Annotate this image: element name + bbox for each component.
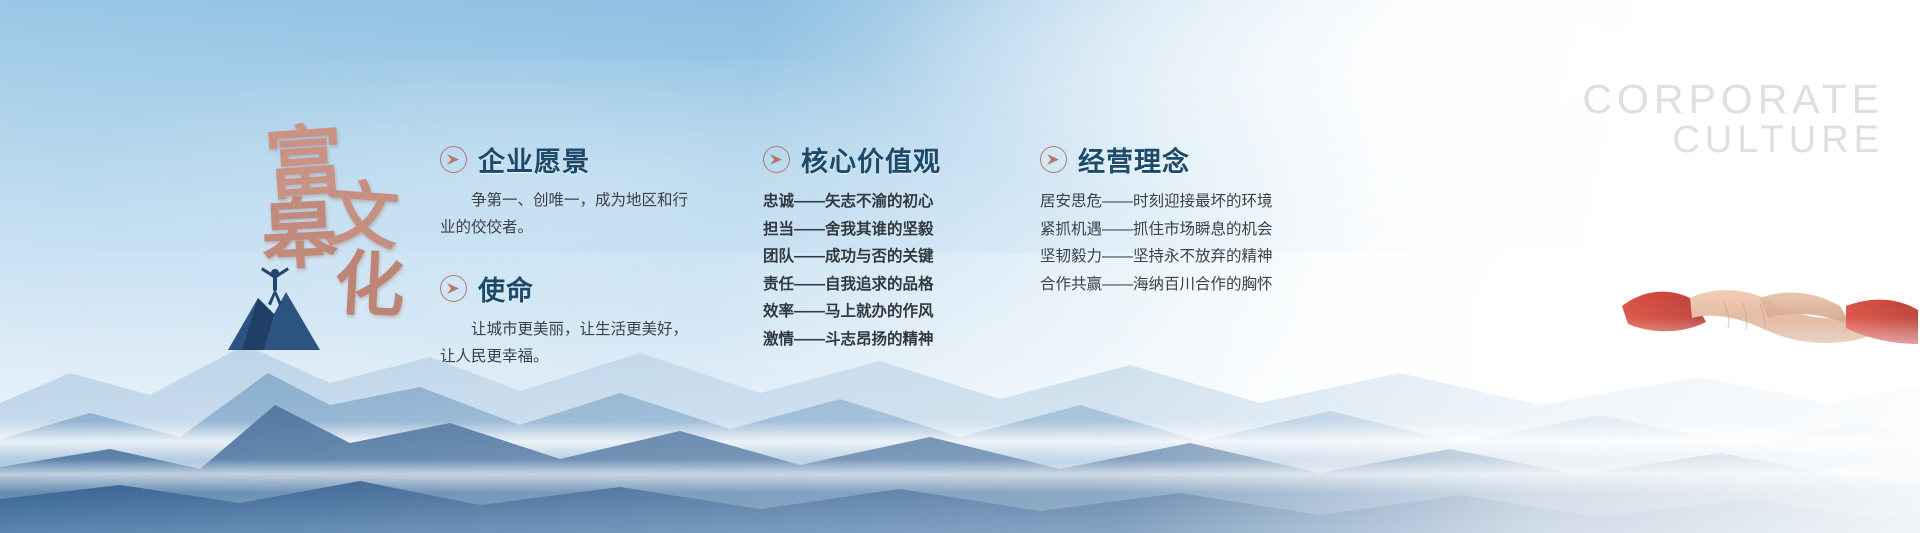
block-vision: 企业愿景 争第一、创唯一，成为地区和行业的佼佼者。 [440,140,740,241]
core-values-list: 忠诚——矢志不渝的初心 担当——舍我其谁的坚毅 团队——成功与否的关键 责任——… [763,188,1063,353]
business-philosophy-list: 居安思危——时刻迎接最坏的环境 紧抓机遇——抓住市场瞬息的机会 坚韧毅力——坚持… [1040,188,1360,298]
mission-body: 让城市更美丽，让生活更美好，让人民更幸福。 [440,317,702,370]
corporate-culture-banner: CORPORATE CULTURE 富 皋 文 化 [0,0,1920,533]
core-values-title: 核心价值观 [801,140,941,179]
mission-title: 使命 [478,269,534,308]
list-item: 紧抓机遇——抓住市场瞬息的机会 [1040,216,1360,244]
mission-heading: 使命 [440,269,740,308]
vision-body: 争第一、创唯一，成为地区和行业的佼佼者。 [440,188,702,241]
list-item: 团队——成功与否的关键 [763,243,1063,271]
core-values-heading: 核心价值观 [763,140,1063,179]
culture-columns: 企业愿景 争第一、创唯一，成为地区和行业的佼佼者。 使命 让城市更美丽，让生活更… [0,0,1920,533]
list-item: 坚韧毅力——坚持永不放弃的精神 [1040,243,1360,271]
chevron-circle-icon [763,146,790,173]
chevron-circle-icon [1040,146,1067,173]
business-philosophy-title: 经营理念 [1078,140,1190,179]
business-philosophy-heading: 经营理念 [1040,140,1360,179]
list-item: 激情——斗志昂扬的精神 [763,326,1063,354]
list-item: 合作共赢——海纳百川合作的胸怀 [1040,271,1360,299]
block-mission: 使命 让城市更美丽，让生活更美好，让人民更幸福。 [440,269,740,370]
vision-heading: 企业愿景 [440,140,740,179]
chevron-circle-icon [440,275,467,302]
column-business-philosophy: 经营理念 居安思危——时刻迎接最坏的环境 紧抓机遇——抓住市场瞬息的机会 坚韧毅… [1040,140,1360,306]
column-core-values: 核心价值观 忠诚——矢志不渝的初心 担当——舍我其谁的坚毅 团队——成功与否的关… [763,140,1063,361]
block-core-values: 核心价值观 忠诚——矢志不渝的初心 担当——舍我其谁的坚毅 团队——成功与否的关… [763,140,1063,353]
list-item: 居安思危——时刻迎接最坏的环境 [1040,188,1360,216]
list-item: 担当——舍我其谁的坚毅 [763,216,1063,244]
list-item: 效率——马上就办的作风 [763,298,1063,326]
column-vision-mission: 企业愿景 争第一、创唯一，成为地区和行业的佼佼者。 使命 让城市更美丽，让生活更… [440,140,740,379]
list-item: 忠诚——矢志不渝的初心 [763,188,1063,216]
vision-title: 企业愿景 [478,140,590,179]
block-business-philosophy: 经营理念 居安思危——时刻迎接最坏的环境 紧抓机遇——抓住市场瞬息的机会 坚韧毅… [1040,140,1360,298]
column-1-spacer [440,249,740,269]
chevron-circle-icon [440,146,467,173]
list-item: 责任——自我追求的品格 [763,271,1063,299]
